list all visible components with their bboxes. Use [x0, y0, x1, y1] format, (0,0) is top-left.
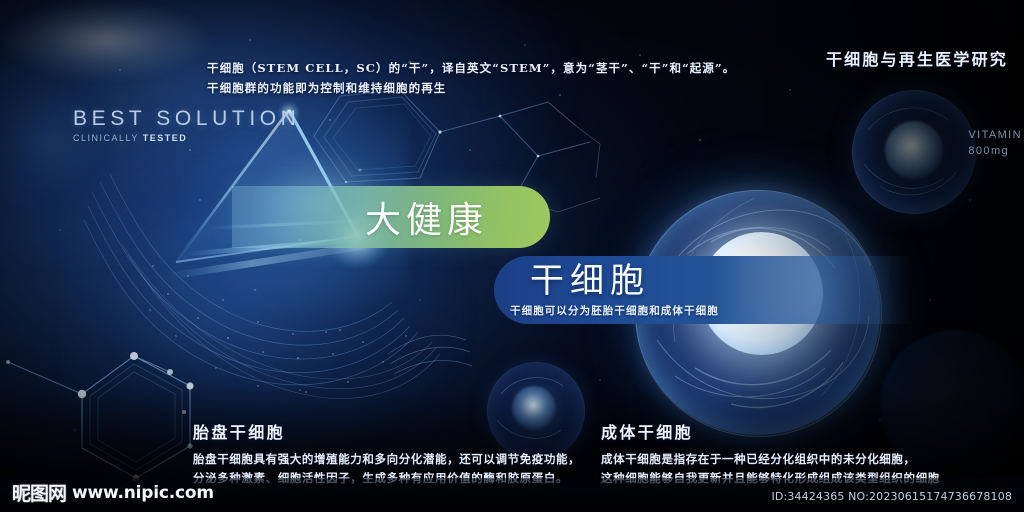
intro-paragraph: 干细胞（STEM CELL，SC）的“干”，译自英文“STEM”，意为“茎干”、…: [207, 58, 767, 98]
edge-label-vitamin: VITAMIN 800mg: [968, 127, 1022, 159]
tagline-secondary-plain: CLINICALLY: [73, 133, 143, 143]
badge-stem-cell: 干细胞 干细胞可以分为胚胎干细胞和成体干细胞: [494, 256, 912, 324]
tagline-secondary: CLINICALLY TESTED: [73, 133, 187, 143]
asset-id-label: ID:34424365 NO:20230615174736678108: [771, 490, 1012, 503]
watermark: 昵图网 www.nipic.com: [12, 479, 214, 506]
intro-paragraph-line-2: 干细胞群的功能即为控制和维持细胞的再生: [207, 78, 767, 98]
section-placental-heading: 胎盘干细胞: [193, 419, 580, 443]
page-title: 干细胞与再生医学研究: [826, 46, 1008, 70]
watermark-logo: 昵图网: [12, 479, 66, 506]
tagline-primary: BEST SOLUTION: [73, 107, 300, 131]
badge-great-health-label: 大健康: [365, 191, 550, 243]
watermark-url: www.nipic.com: [72, 483, 214, 503]
intro-paragraph-line-1: 干细胞（STEM CELL，SC）的“干”，译自英文“STEM”，意为“茎干”、…: [207, 58, 767, 78]
edge-label-line-1: VITAMIN: [968, 127, 1022, 143]
badge-great-health: 大健康: [232, 186, 550, 248]
section-adult-line-1: 成体干细胞是指存在于一种已经分化组织中的未分化细胞，: [601, 450, 940, 469]
footer-bar: 昵图网 www.nipic.com ID:34424365 NO:2023061…: [0, 478, 1024, 512]
badge-stem-cell-label: 干细胞: [494, 256, 912, 298]
tagline-secondary-bold: TESTED: [143, 133, 188, 143]
section-adult-heading: 成体干细胞: [601, 419, 940, 443]
section-placental-line-1: 胎盘干细胞具有强大的增殖能力和多向分化潜能，还可以调节免疫功能，: [193, 450, 580, 469]
edge-label-line-2: 800mg: [968, 143, 1022, 159]
poster-canvas: 干细胞（STEM CELL，SC）的“干”，译自英文“STEM”，意为“茎干”、…: [0, 0, 1024, 512]
badge-stem-cell-subtitle: 干细胞可以分为胚胎干细胞和成体干细胞: [494, 298, 912, 318]
